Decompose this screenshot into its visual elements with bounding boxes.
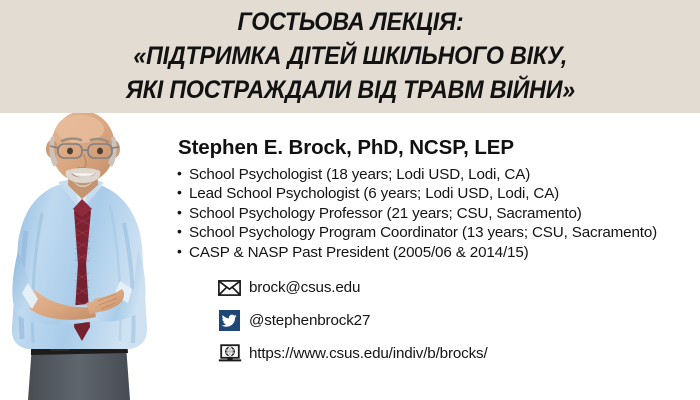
person-name: Stephen E. Brock, PhD, NCSP, LEP: [178, 136, 700, 160]
contact-row-twitter[interactable]: @stephenbrock27: [217, 304, 700, 337]
credentials-list: School Psychologist (18 years; Lodi USD,…: [176, 165, 700, 262]
envelope-icon: [217, 278, 242, 298]
header-title-line-2: «ПІДТРИМКА ДІТЕЙ ШКІЛЬНОГО ВІКУ,: [133, 39, 567, 73]
email-address: brock@csus.edu: [249, 279, 360, 296]
contact-row-website[interactable]: https://www.csus.edu/indiv/b/brocks/: [217, 337, 700, 370]
credential-item: School Psychology Professor (21 years; C…: [176, 204, 700, 223]
laptop-globe-icon: [217, 344, 242, 364]
header-title-line-1: ГОСТЬОВА ЛЕКЦІЯ:: [237, 5, 463, 39]
credential-item: CASP & NASP Past President (2005/06 & 20…: [176, 243, 700, 262]
credential-item: Lead School Psychologist (6 years; Lodi …: [176, 184, 700, 203]
contact-list: brock@csus.edu @stephenbrock27: [176, 271, 700, 370]
twitter-handle: @stephenbrock27: [249, 312, 370, 329]
profile-content: Stephen E. Brock, PhD, NCSP, LEP School …: [176, 136, 700, 370]
website-url: https://www.csus.edu/indiv/b/brocks/: [249, 345, 488, 362]
guest-lecture-slide: ГОСТЬОВА ЛЕКЦІЯ: «ПІДТРИМКА ДІТЕЙ ШКІЛЬН…: [0, 0, 700, 400]
header-title-line-3: ЯКІ ПОСТРАЖДАЛИ ВІД ТРАВМ ВІЙНИ»: [125, 73, 574, 107]
credential-item: School Psychology Program Coordinator (1…: [176, 223, 700, 242]
contact-row-email[interactable]: brock@csus.edu: [217, 271, 700, 304]
header-banner: ГОСТЬОВА ЛЕКЦІЯ: «ПІДТРИМКА ДІТЕЙ ШКІЛЬН…: [0, 0, 700, 113]
portrait-photo: [0, 113, 168, 400]
twitter-icon: [217, 311, 242, 331]
credential-item: School Psychologist (18 years; Lodi USD,…: [176, 165, 700, 184]
